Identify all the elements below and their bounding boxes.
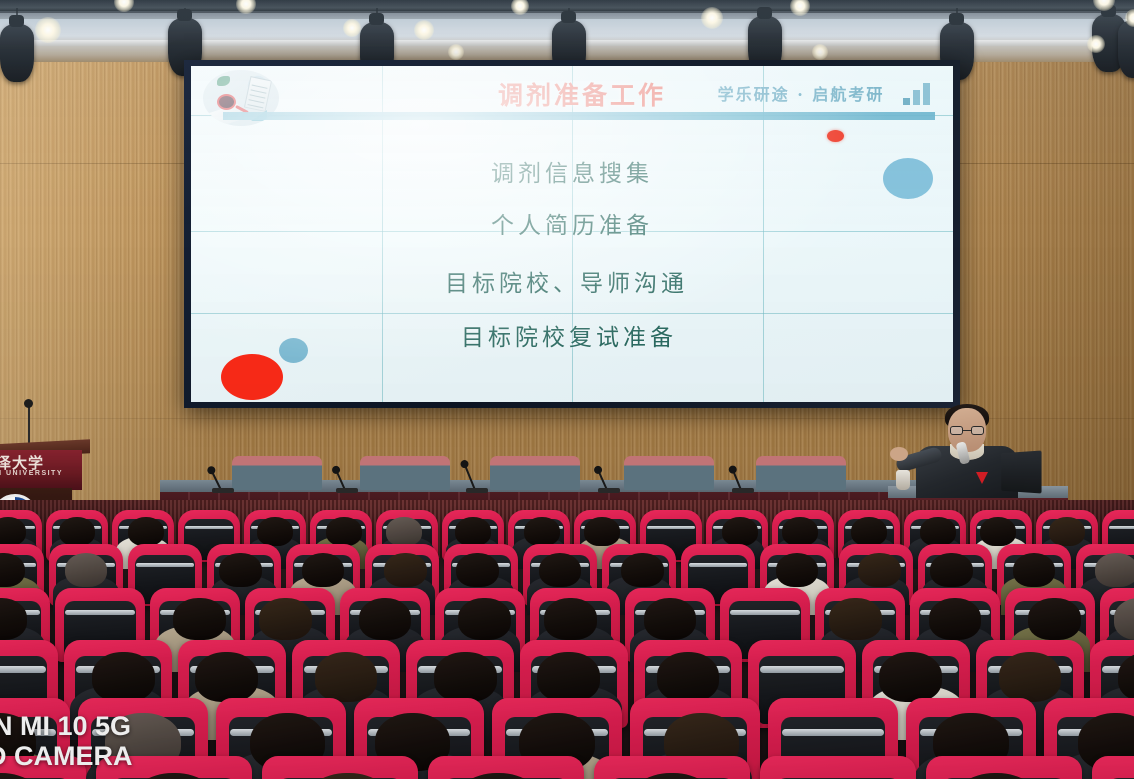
- slide-bullet-text: 个人简历准备: [491, 206, 653, 240]
- dais-chair: [756, 456, 846, 490]
- audience-person-head: [539, 553, 582, 588]
- seat-chrome-bar: [136, 563, 194, 567]
- microphone-base: [732, 488, 754, 493]
- audience-person-head: [456, 553, 499, 588]
- dais-chair: [360, 456, 450, 490]
- speaker-hand: [890, 447, 908, 461]
- slide-bullet-text: 目标院校复试准备: [461, 318, 677, 352]
- audience-person-head: [782, 517, 818, 546]
- slide-title: 调剂准备工作: [467, 76, 697, 112]
- decor-blue-circle-large: [883, 158, 933, 199]
- dais-chair: [624, 456, 714, 490]
- audience-person-head: [259, 598, 311, 639]
- decor-blue-dot-small: [279, 338, 308, 363]
- audience-person-head: [219, 553, 262, 588]
- ceiling-lamp-icon: [701, 7, 723, 29]
- audience-person-head: [434, 652, 497, 701]
- seat-chrome-bar: [730, 610, 800, 615]
- audience-person-head: [128, 517, 164, 546]
- title-underline-rule: [223, 112, 935, 120]
- audience-person-head: [65, 553, 108, 588]
- audience-person-head: [302, 553, 345, 588]
- ceiling-lamp-icon: [1087, 35, 1105, 53]
- audience-person-head: [776, 553, 819, 588]
- audience-person-head: [386, 517, 422, 546]
- ceiling-lamp-icon: [448, 44, 464, 60]
- seat-chrome-bar: [0, 666, 46, 672]
- audience-person-head: [544, 598, 596, 639]
- dais-chair: [490, 456, 580, 490]
- seat-chrome-bar: [782, 729, 883, 736]
- audience-person-head: [999, 652, 1062, 701]
- audience-seat: [1092, 756, 1134, 779]
- lectern-university-name-en: N UNIVERSITY: [0, 470, 68, 477]
- audience-person-head: [1028, 598, 1080, 639]
- slide-bullet-text: 目标院校、导师沟通: [445, 264, 688, 298]
- audience-person-head: [929, 598, 981, 639]
- audience-person-head: [92, 652, 155, 701]
- microphone-base: [212, 488, 234, 493]
- stage-spotlight-icon: [1118, 20, 1134, 78]
- audience-person-head: [1013, 553, 1056, 588]
- glasses-icon: [950, 426, 984, 435]
- audience-person-head: [173, 598, 225, 639]
- ceiling-lamp-icon: [35, 17, 61, 43]
- audience-person-head: [980, 517, 1016, 546]
- seat-chrome-bar: [1109, 526, 1134, 530]
- ceiling-lamp-icon: [414, 20, 434, 40]
- dais-chair: [232, 456, 322, 490]
- lecture-hall-photo: 调剂准备工作 学乐研途 · 启航考研 调剂信息搜集个人简历准备目标院校、导师沟通…: [0, 0, 1134, 779]
- audience-person-head: [879, 652, 942, 701]
- calculator-icon: [244, 76, 272, 112]
- audience-person-head: [524, 517, 560, 546]
- seat-chrome-bar: [760, 666, 844, 672]
- decor-red-dot-small: [827, 130, 844, 142]
- seat-chrome-bar: [647, 526, 695, 530]
- audience-person-head: [851, 517, 887, 546]
- audience-person-head: [384, 553, 427, 588]
- audience-person-head: [1095, 553, 1134, 588]
- audience-person-head: [315, 652, 378, 701]
- presentation-slide: 调剂准备工作 学乐研途 · 启航考研 调剂信息搜集个人简历准备目标院校、导师沟通…: [191, 66, 953, 402]
- ceiling-lamp-icon: [812, 44, 828, 60]
- audience-person-head: [584, 517, 620, 546]
- ceiling-lamp-icon: [343, 19, 361, 37]
- audience-person-head: [722, 517, 758, 546]
- audience-person-head: [858, 553, 901, 588]
- stage-spotlight-icon: [0, 24, 34, 82]
- brand-bars-icon: [903, 83, 930, 105]
- seat-chrome-bar: [65, 610, 135, 615]
- cup-icon: [896, 470, 910, 490]
- magnifier-icon: [217, 94, 236, 110]
- audience-person-head: [657, 652, 720, 701]
- led-video-wall: 调剂准备工作 学乐研途 · 启航考研 调剂信息搜集个人简历准备目标院校、导师沟通…: [184, 60, 960, 408]
- audience-area: [0, 500, 1134, 779]
- audience-seat: [760, 756, 916, 779]
- lectern-microphone-icon: [28, 404, 30, 446]
- audience-person-head: [59, 517, 95, 546]
- laptop-icon: [1001, 451, 1041, 494]
- audience-person-head: [1049, 517, 1085, 546]
- audience-person-head: [0, 517, 26, 546]
- audience-person-head: [644, 598, 696, 639]
- audience-person-head: [359, 598, 411, 639]
- leaf-icon: [217, 76, 230, 86]
- microphone-base: [598, 488, 620, 493]
- decor-red-circle-large: [221, 354, 283, 400]
- slide-bullet-text: 调剂信息搜集: [491, 154, 653, 188]
- seat-chrome-bar: [185, 526, 233, 530]
- audience-person-head: [930, 553, 973, 588]
- audience-person-head: [195, 652, 258, 701]
- audience-person-head: [920, 517, 956, 546]
- audience-person-head: [458, 598, 510, 639]
- audience-person-head: [829, 598, 881, 639]
- slide-brand: 学乐研途 · 启航考研: [689, 81, 913, 105]
- audience-person-head: [257, 517, 293, 546]
- audience-person-head: [326, 517, 362, 546]
- microphone-base: [466, 488, 488, 493]
- audience-person-head: [455, 517, 491, 546]
- led-seam-horizontal: [191, 313, 953, 314]
- audience-person-head: [537, 652, 600, 701]
- seat-chrome-bar: [689, 563, 747, 567]
- audience-person-head: [621, 553, 664, 588]
- microphone-base: [336, 488, 358, 493]
